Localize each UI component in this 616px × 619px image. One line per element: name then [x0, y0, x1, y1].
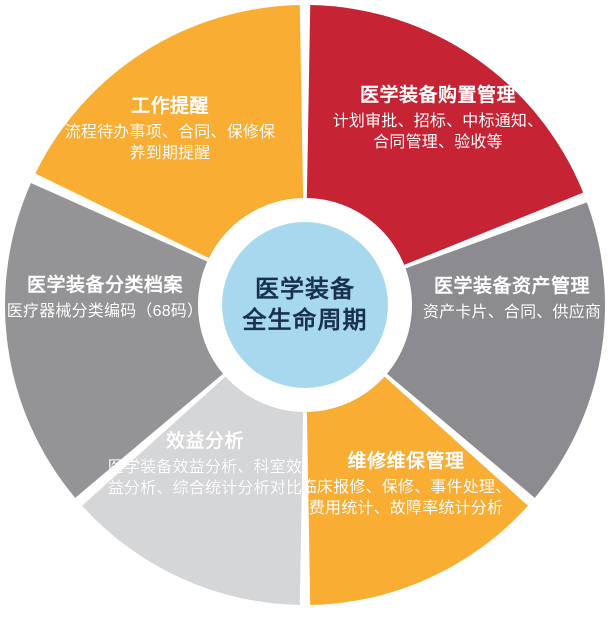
lifecycle-wheel-diagram: 医学装备购置管理 计划审批、招标、中标通知、合同管理、验收等 医学装备资产管理 …	[0, 0, 616, 619]
center-title-line1: 医学装备	[255, 274, 355, 305]
center-disc: 医学装备 全生命周期	[222, 222, 388, 388]
center-hub: 医学装备 全生命周期	[198, 198, 412, 412]
center-title-line2: 全生命周期	[243, 305, 368, 336]
